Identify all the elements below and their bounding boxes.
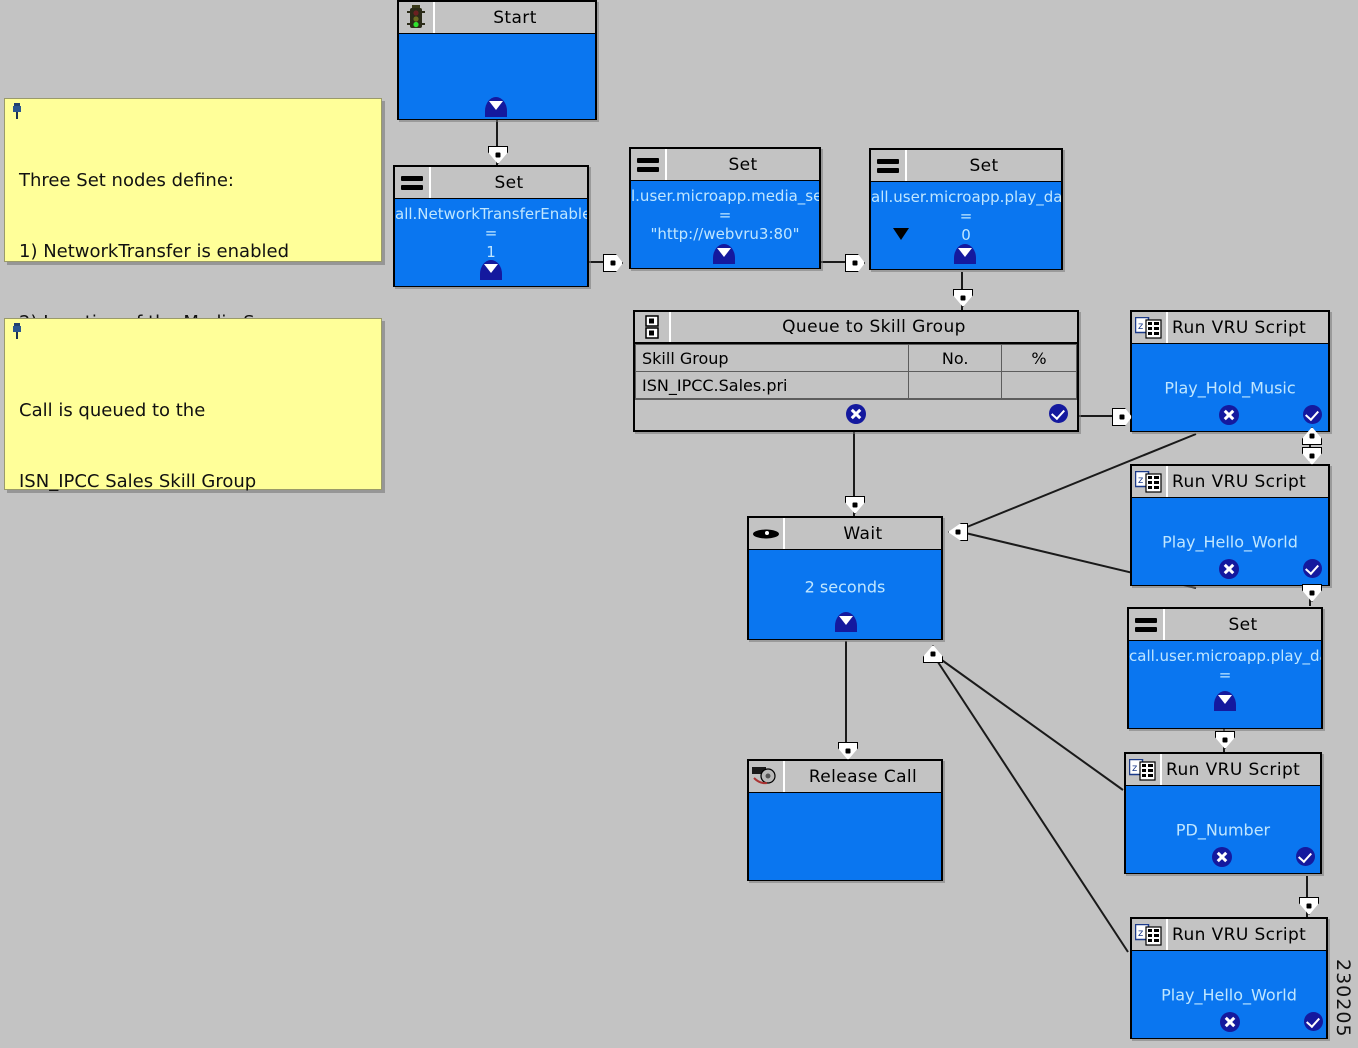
vru-script-icon: z	[1132, 312, 1168, 343]
node-header: Set	[871, 150, 1061, 182]
vru-script-icon: z	[1126, 754, 1162, 785]
node-set-media-server[interactable]: Set l.user.microapp.media_ser = "http://…	[629, 147, 821, 269]
vru-script-icon: z	[1132, 466, 1168, 497]
node-run-vru-play-hello-world-1[interactable]: z Run VRU Script Play_Hello_World	[1130, 464, 1330, 586]
equals-icon	[871, 150, 907, 181]
input-marker-down[interactable]	[845, 496, 865, 514]
failure-connector[interactable]	[1220, 1012, 1240, 1032]
node-title: Run VRU Script	[1168, 919, 1326, 950]
cell-pct[interactable]	[1002, 372, 1077, 399]
cell-no[interactable]	[909, 372, 1002, 399]
sticky-note-queue[interactable]: Call is queued to the ISN_IPCC Sales Ski…	[4, 318, 382, 490]
node-body: Play_Hello_World	[1132, 498, 1328, 585]
node-header: Release Call	[749, 761, 941, 793]
vru-script-icon: z	[1132, 919, 1168, 950]
node-run-vru-play-hello-world-2[interactable]: z Run VRU Script Play_Hello_World	[1130, 917, 1328, 1039]
table-header-row: Skill Group No. %	[636, 345, 1077, 372]
success-connector[interactable]	[1303, 405, 1322, 424]
node-release-call[interactable]: Release Call	[747, 759, 943, 881]
column-header-skill-group: Skill Group	[636, 345, 909, 372]
equals-icon	[1129, 609, 1165, 640]
input-marker-down[interactable]	[1299, 897, 1319, 915]
note-line: Three Set nodes define:	[19, 169, 371, 193]
set-operator: =	[871, 207, 1061, 226]
node-header: Set	[395, 167, 587, 199]
set-value: "http://webvru3:80"	[631, 225, 819, 244]
input-marker-right[interactable]	[603, 254, 623, 272]
node-set-network-transfer[interactable]: Set all.NetworkTransferEnable = 1	[393, 165, 589, 287]
skill-group-table: Skill Group No. % ISN_IPCC.Sales.pri	[635, 344, 1077, 399]
vru-script-name: PD_Number	[1126, 820, 1320, 839]
pushpin-icon	[11, 323, 23, 339]
success-connector[interactable]	[1303, 559, 1322, 578]
vru-script-name: Play_Hello_World	[1132, 532, 1328, 551]
cell-skill-group[interactable]: ISN_IPCC.Sales.pri	[636, 372, 909, 399]
node-run-vru-pd-number[interactable]: z Run VRU Script PD_Number	[1124, 752, 1322, 874]
figure-id: 230205	[1332, 959, 1354, 1038]
release-call-icon	[749, 761, 785, 792]
set-operator: =	[1129, 666, 1321, 685]
node-header: z Run VRU Script	[1132, 919, 1326, 951]
note-line: ISN_IPCC Sales Skill Group	[19, 470, 371, 494]
node-body	[749, 793, 941, 880]
wait-duration: 2 seconds	[749, 578, 941, 597]
node-title: Set	[667, 149, 819, 180]
output-connector-down[interactable]	[485, 97, 507, 117]
set-variable: all.user.microapp.play_da	[871, 188, 1061, 207]
node-header: Set	[1129, 609, 1321, 641]
column-header-pct: %	[1002, 345, 1077, 372]
node-title: Run VRU Script	[1168, 466, 1328, 497]
pushpin-icon	[11, 103, 23, 119]
node-header: Set	[631, 149, 819, 181]
node-title: Set	[907, 150, 1061, 181]
node-title: Set	[431, 167, 587, 198]
node-title: Set	[1165, 609, 1321, 640]
traffic-light-icon	[399, 2, 435, 33]
note-text: Call is queued to the ISN_IPCC Sales Ski…	[19, 351, 371, 541]
set-value: 1	[395, 243, 587, 262]
output-marker-up[interactable]	[923, 645, 943, 663]
note-line: Call is queued to the	[19, 399, 371, 423]
node-header: Queue to Skill Group	[635, 312, 1077, 344]
node-wait[interactable]: Wait 2 seconds	[747, 516, 943, 640]
equals-icon	[395, 167, 431, 198]
node-body: all.user.microapp.play_da = 0	[871, 182, 1061, 269]
script-editor-canvas: Three Set nodes define: 1) NetworkTransf…	[0, 0, 1358, 1048]
svg-text:z: z	[1138, 321, 1143, 332]
node-title: Queue to Skill Group	[671, 312, 1077, 342]
input-marker-right[interactable]	[845, 254, 865, 272]
set-variable: all.NetworkTransferEnable	[395, 205, 587, 224]
node-set-play-data-bottom[interactable]: Set call.user.microapp.play_da =	[1127, 607, 1323, 729]
node-run-vru-play-hold-music[interactable]: z Run VRU Script Play_Hold_Music	[1130, 310, 1330, 432]
failure-connector[interactable]	[1212, 847, 1232, 867]
failure-connector[interactable]	[1219, 405, 1239, 425]
failure-connector[interactable]	[846, 404, 866, 424]
node-body: call.user.microapp.play_da =	[1129, 641, 1321, 728]
node-body: Play_Hello_World	[1132, 951, 1326, 1038]
success-connector[interactable]	[1296, 847, 1315, 866]
node-start[interactable]: Start	[397, 0, 597, 120]
node-footer	[635, 399, 1077, 428]
node-title: Wait	[785, 518, 941, 549]
node-body: 2 seconds	[749, 550, 941, 639]
vru-script-name: Play_Hello_World	[1132, 985, 1326, 1004]
wait-icon	[749, 518, 785, 549]
node-header: z Run VRU Script	[1132, 466, 1328, 498]
output-connector-down[interactable]	[480, 260, 502, 280]
node-title: Run VRU Script	[1162, 754, 1320, 785]
node-header: z Run VRU Script	[1132, 312, 1328, 344]
node-queue-to-skill-group[interactable]: Queue to Skill Group Skill Group No. % I…	[633, 310, 1079, 432]
node-body: l.user.microapp.media_ser = "http://webv…	[631, 181, 819, 268]
svg-text:z: z	[1138, 928, 1143, 939]
input-marker-down[interactable]	[488, 146, 508, 164]
set-variable: l.user.microapp.media_ser	[631, 187, 819, 206]
node-header: z Run VRU Script	[1126, 754, 1320, 786]
svg-text:z: z	[1138, 475, 1143, 486]
node-header: Wait	[749, 518, 941, 550]
node-set-play-data-top[interactable]: Set all.user.microapp.play_da = 0	[869, 148, 1063, 270]
set-operator: =	[631, 206, 819, 225]
node-body: Play_Hold_Music	[1132, 344, 1328, 431]
input-marker-down[interactable]	[953, 289, 973, 307]
success-connector[interactable]	[1304, 1012, 1323, 1031]
node-header: Start	[399, 2, 595, 34]
svg-text:z: z	[1132, 763, 1137, 774]
input-marker-down[interactable]	[1302, 584, 1322, 602]
column-header-no: No.	[909, 345, 1002, 372]
sticky-note-set-nodes[interactable]: Three Set nodes define: 1) NetworkTransf…	[4, 98, 382, 262]
table-row: ISN_IPCC.Sales.pri	[636, 372, 1077, 399]
set-operator: =	[395, 224, 587, 243]
input-marker-down[interactable]	[1215, 731, 1235, 749]
success-connector[interactable]	[1049, 404, 1068, 423]
output-connector-down[interactable]	[835, 612, 857, 632]
queue-icon	[635, 312, 671, 342]
output-connector-down[interactable]	[713, 244, 735, 264]
input-marker-left[interactable]	[948, 523, 968, 541]
input-marker-right[interactable]	[1112, 408, 1132, 426]
node-body: PD_Number	[1126, 786, 1320, 873]
failure-connector[interactable]	[1219, 559, 1239, 579]
output-connector-down[interactable]	[954, 244, 976, 264]
vru-script-name: Play_Hold_Music	[1132, 378, 1328, 397]
output-connector-down[interactable]	[1214, 691, 1236, 711]
node-title: Release Call	[785, 761, 941, 792]
input-marker-down[interactable]	[838, 742, 858, 760]
node-body: all.NetworkTransferEnable = 1	[395, 199, 587, 286]
note-line: 1) NetworkTransfer is enabled	[19, 240, 371, 264]
node-title: Start	[435, 2, 595, 33]
input-marker-down[interactable]	[1302, 447, 1322, 465]
set-variable: call.user.microapp.play_da	[1129, 647, 1321, 666]
equals-icon	[631, 149, 667, 180]
node-title: Run VRU Script	[1168, 312, 1328, 343]
